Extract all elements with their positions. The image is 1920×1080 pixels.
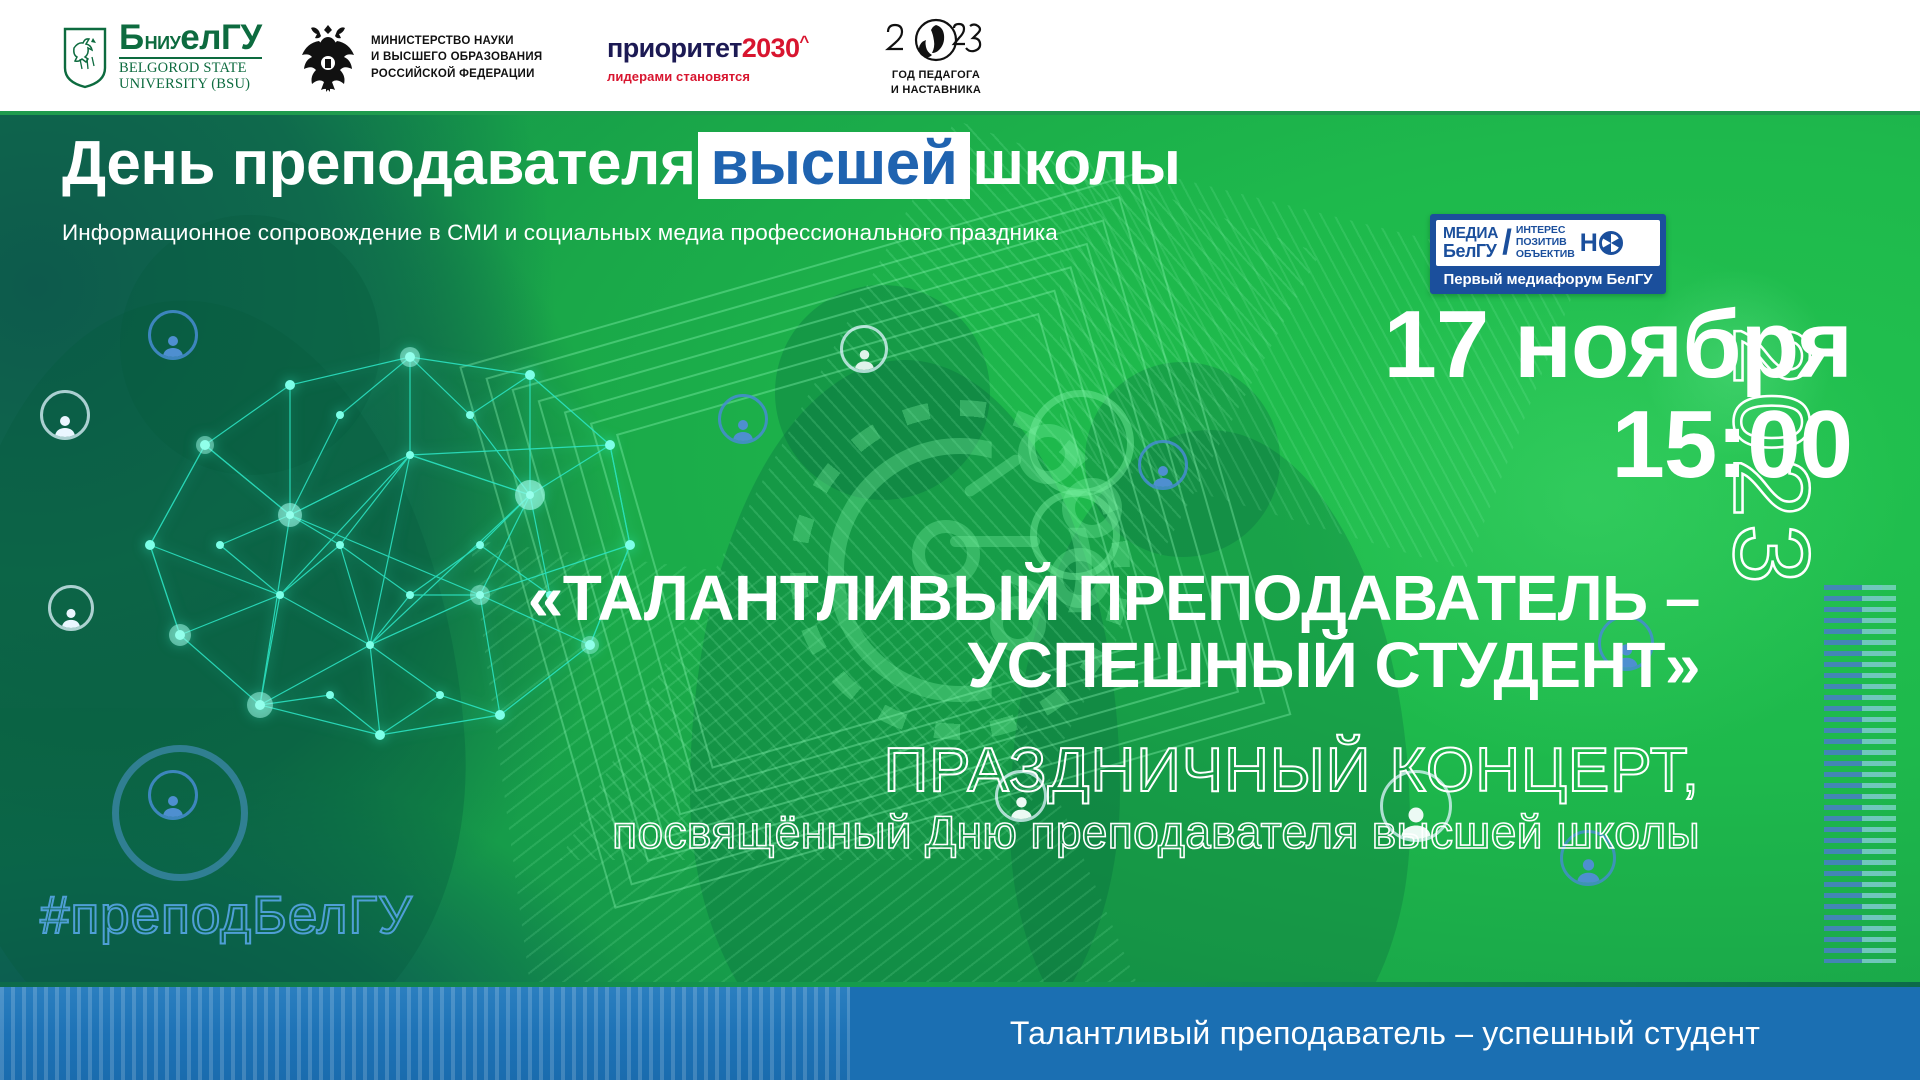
event-title-line1: «ТАЛАНТЛИВЫЙ ПРЕПОДАВАТЕЛЬ – [0, 565, 1700, 632]
bottom-banner: Талантливый преподаватель – успешный сту… [850, 987, 1920, 1080]
mediaforum-caption: Первый медиафорум БелГУ [1436, 266, 1660, 290]
user-avatar-badge [40, 390, 90, 440]
bottom-striped-band [0, 987, 850, 1080]
user-avatar-badge [718, 394, 768, 444]
year-teacher-line2: И НАСТАВНИКА [891, 83, 981, 98]
camera-aperture-icon [1599, 231, 1623, 255]
priority-wordmark: приоритет2030^ [607, 33, 809, 62]
event-time: 15:00 [1383, 396, 1852, 494]
bsu-en-line1: BELGOROD STATE [119, 61, 262, 77]
event-title-block: «ТАЛАНТЛИВЫЙ ПРЕПОДАВАТЕЛЬ – УСПЕШНЫЙ СТ… [0, 565, 1730, 699]
bsu-b: Б [119, 22, 144, 54]
bsu-divider [119, 57, 262, 59]
mediaforum-n-letter: Н [1580, 233, 1598, 253]
bsu-en-line2: UNIVERSITY (BSU) [119, 77, 262, 93]
title-part-1: День преподавателя [62, 129, 696, 198]
priority-2030-logo[interactable]: приоритет2030^ лидерами становятся [607, 33, 882, 83]
user-avatar-badge [148, 310, 198, 360]
page-title: День преподавателявысшейшколы [62, 128, 1180, 199]
page-subtitle: Информационное сопровождение в СМИ и соц… [62, 220, 1058, 246]
top-logo-bar: Б НИУ ел ГУ BELGOROD STATE UNIVERSITY (B… [0, 0, 1920, 115]
priority-number: 2030 [742, 33, 800, 63]
title-part-3: школы [972, 129, 1180, 198]
bottom-banner-text: Талантливый преподаватель – успешный сту… [1010, 1015, 1760, 1052]
event-date: 17 ноября [1383, 296, 1852, 394]
user-avatar-badge [840, 325, 888, 373]
ministry-logo[interactable]: МИНИСТЕРСТВО НАУКИ И ВЫСШЕГО ОБРАЗОВАНИЯ… [297, 19, 607, 97]
event-dedication-label: посвящённый Дню преподавателя высшей шко… [0, 805, 1730, 859]
schedule-block: 17 ноября 15:00 [1383, 296, 1852, 494]
bsu-gu: ГУ [221, 22, 262, 54]
ministry-line2: И ВЫСШЕГО ОБРАЗОВАНИЯ [371, 49, 542, 65]
poster-root: высшей Б НИУ ел [0, 0, 1920, 1080]
shield-with-lion-icon [62, 26, 108, 90]
dash-pattern-right-2 [1862, 585, 1896, 963]
hashtag-label[interactable]: #преподБелГУ [40, 885, 413, 946]
mediaforum-keywords: ИНТЕРЕС ПОЗИТИВ ОБЪЕКТИВ [1516, 225, 1575, 261]
mediaforum-media-label: МЕДИА [1443, 226, 1498, 242]
bsu-name-en: BELGOROD STATE UNIVERSITY (BSU) [119, 61, 262, 92]
year-of-teacher-logo[interactable]: ГОД ПЕДАГОГА И НАСТАВНИКА [882, 18, 1062, 98]
pelican-2023-icon [882, 18, 990, 64]
ministry-text: МИНИСТЕРСТВО НАУКИ И ВЫСШЕГО ОБРАЗОВАНИЯ… [371, 33, 542, 82]
user-avatar-badge [1138, 440, 1188, 490]
mediaforum-slash: / [1502, 229, 1512, 256]
event-title-line2: УСПЕШНЫЙ СТУДЕНТ» [0, 632, 1700, 699]
bsu-logo[interactable]: Б НИУ ел ГУ BELGOROD STATE UNIVERSITY (B… [62, 22, 297, 93]
outline-circle-center [1028, 390, 1134, 496]
bsu-name-ru: Б НИУ ел ГУ [119, 22, 262, 54]
mediaforum-logo-row: МЕДИА БелГУ / ИНТЕРЕС ПОЗИТИВ ОБЪЕКТИВ Н [1436, 220, 1660, 266]
double-headed-eagle-icon [297, 19, 359, 97]
topbar-green-accent [0, 111, 1920, 115]
mediaforum-belgu-label: БелГУ [1443, 242, 1498, 260]
title-highlight-vysshey: высшей [698, 132, 971, 199]
bsu-logo-text: Б НИУ ел ГУ BELGOROD STATE UNIVERSITY (B… [119, 22, 262, 93]
event-kind-label: ПРАЗДНИЧНЫЙ КОНЦЕРТ, [0, 735, 1730, 806]
bsu-el: ел [180, 22, 221, 54]
mediaforum-badge[interactable]: МЕДИА БелГУ / ИНТЕРЕС ПОЗИТИВ ОБЪЕКТИВ Н [1430, 214, 1666, 294]
logo-row: Б НИУ ел ГУ BELGOROD STATE UNIVERSITY (B… [0, 18, 1062, 98]
mediaforum-obyektiv: ОБЪЕКТИВ [1516, 249, 1575, 261]
priority-caret-icon: ^ [799, 32, 808, 51]
priority-word: приоритет [607, 33, 742, 63]
year-of-teacher-text: ГОД ПЕДАГОГА И НАСТАВНИКА [891, 68, 981, 98]
priority-tagline: лидерами становятся [607, 70, 809, 83]
year-teacher-line1: ГОД ПЕДАГОГА [891, 68, 981, 83]
ministry-line1: МИНИСТЕРСТВО НАУКИ [371, 33, 542, 49]
ministry-line3: РОССИЙСКОЙ ФЕДЕРАЦИИ [371, 66, 542, 82]
bsu-niu: НИУ [145, 35, 181, 52]
mediaforum-left: МЕДИА БелГУ [1443, 226, 1498, 261]
